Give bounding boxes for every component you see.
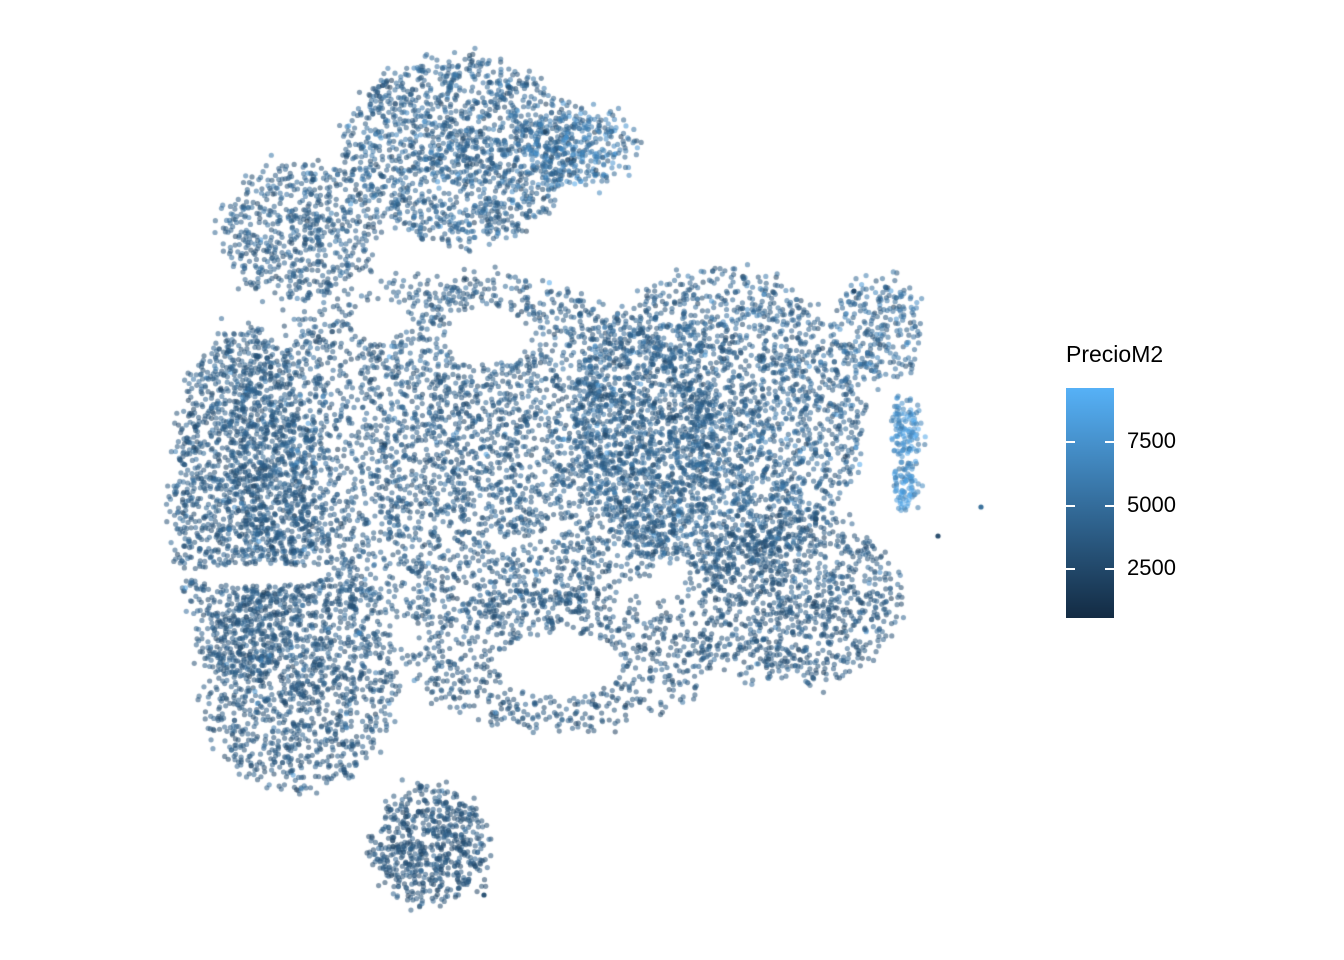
legend-label-5000: 5000 (1127, 494, 1176, 516)
legend-tick-2500-right (1105, 568, 1114, 570)
legend-tick-5000-right (1105, 505, 1114, 507)
legend: PrecioM2 7500 5000 2500 (1066, 340, 1306, 630)
legend-label-2500: 2500 (1127, 557, 1176, 579)
legend-tick-7500-left (1066, 441, 1075, 443)
legend-colorbar (1066, 388, 1114, 618)
legend-tick-7500-right (1105, 441, 1114, 443)
scatter-plot-panel (0, 0, 1040, 960)
legend-title: PrecioM2 (1066, 340, 1163, 368)
plot-root: PrecioM2 7500 5000 2500 (0, 0, 1344, 960)
legend-gradient (1066, 388, 1114, 618)
scatter-point-cloud (0, 0, 1040, 960)
legend-label-7500: 7500 (1127, 430, 1176, 452)
legend-tick-5000-left (1066, 505, 1075, 507)
legend-tick-2500-left (1066, 568, 1075, 570)
